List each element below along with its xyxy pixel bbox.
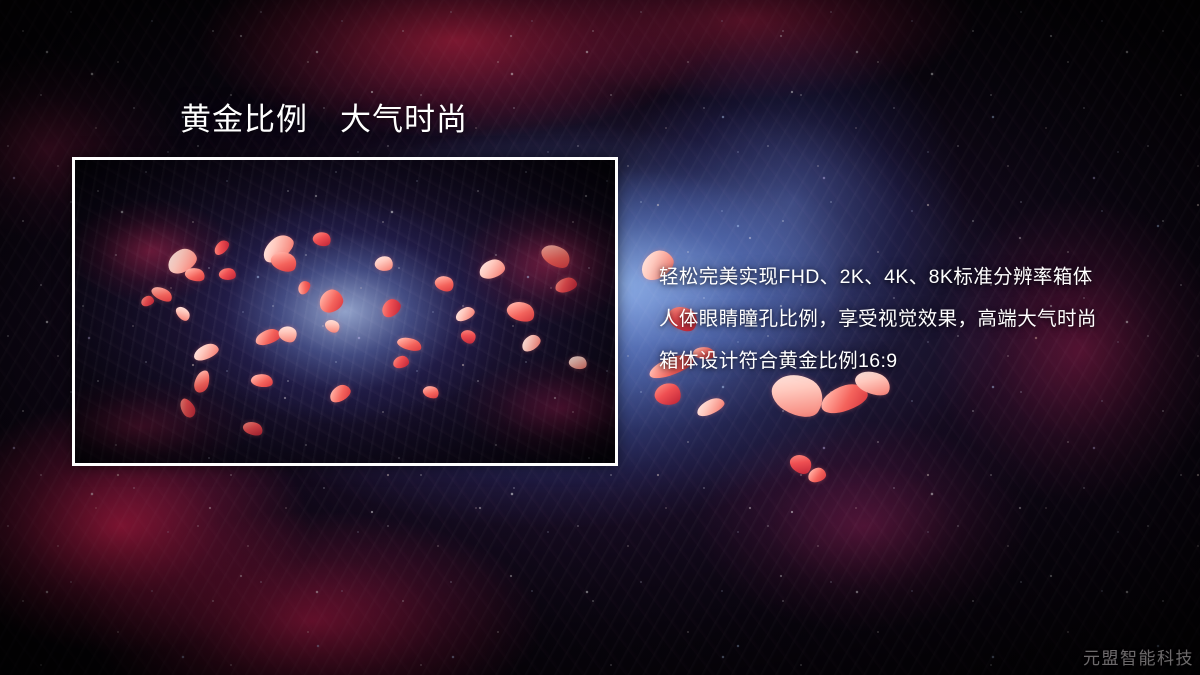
body-text-block: 轻松完美实现FHD、2K、4K、8K标准分辨率箱体 人体眼睛瞳孔比例，享受视觉效… — [659, 256, 1159, 382]
flower-petal — [653, 381, 683, 408]
body-line: 轻松完美实现FHD、2K、4K、8K标准分辨率箱体 — [659, 256, 1159, 298]
flower-petal — [807, 467, 827, 484]
framed-image-vignette — [75, 160, 615, 463]
body-line: 箱体设计符合黄金比例16:9 — [659, 340, 1159, 382]
slide-canvas: 黄金比例 大气时尚 轻松完美实现FHD、2K、4K、8K标准分辨率箱体 人体眼睛… — [0, 0, 1200, 675]
flower-petal — [694, 395, 726, 419]
flower-petal — [787, 450, 815, 478]
body-line: 人体眼睛瞳孔比例，享受视觉效果，高端大气时尚 — [659, 298, 1159, 340]
picture-frame — [72, 157, 618, 466]
page-title: 黄金比例 大气时尚 — [180, 102, 468, 138]
watermark: 元盟智能科技 — [1083, 644, 1194, 669]
flower-petal — [817, 380, 870, 417]
